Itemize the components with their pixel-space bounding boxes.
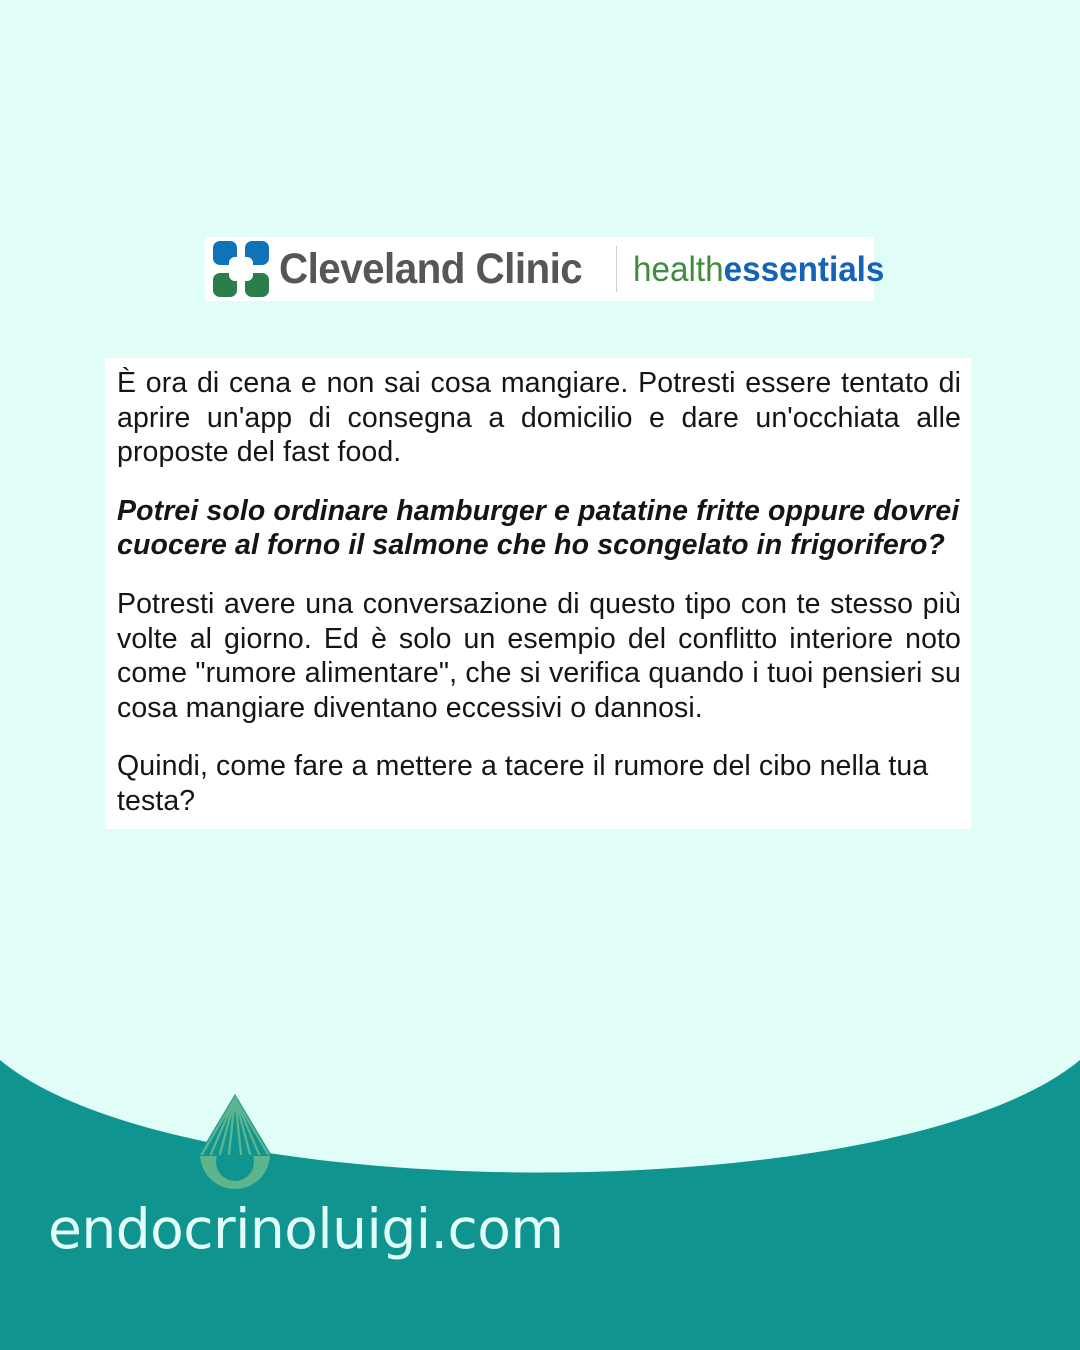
article-paragraph-1: È ora di cena e non sai cosa mangiare. P… (117, 366, 961, 470)
health-essentials-light-part: health (633, 250, 724, 289)
brand-header: Cleveland Clinic healthessentials (205, 237, 874, 301)
page-canvas: Cleveland Clinic healthessentials È ora … (0, 0, 1080, 1350)
article-paragraph-2-quote: Potrei solo ordinare hamburger e patatin… (117, 494, 961, 563)
article-paragraph-4: Quindi, come fare a mettere a tacere il … (117, 749, 961, 818)
cleveland-clinic-mark-icon (213, 241, 269, 297)
health-essentials-wordmark: healthessentials (633, 252, 884, 287)
brand-divider (616, 246, 617, 292)
footer-content: endocrinoluigi.com (0, 1060, 1080, 1350)
site-footer: endocrinoluigi.com (0, 1060, 1080, 1350)
article-paragraph-3: Potresti avere una conversazione di ques… (117, 587, 961, 725)
water-droplet-icon (192, 1092, 278, 1196)
cleveland-clinic-wordmark: Cleveland Clinic (279, 248, 582, 291)
health-essentials-bold-part: essentials (723, 250, 884, 289)
mark-center-notch (229, 257, 253, 281)
article-text-panel: È ora di cena e non sai cosa mangiare. P… (105, 358, 971, 829)
site-domain-label: endocrinoluigi.com (48, 1202, 563, 1257)
